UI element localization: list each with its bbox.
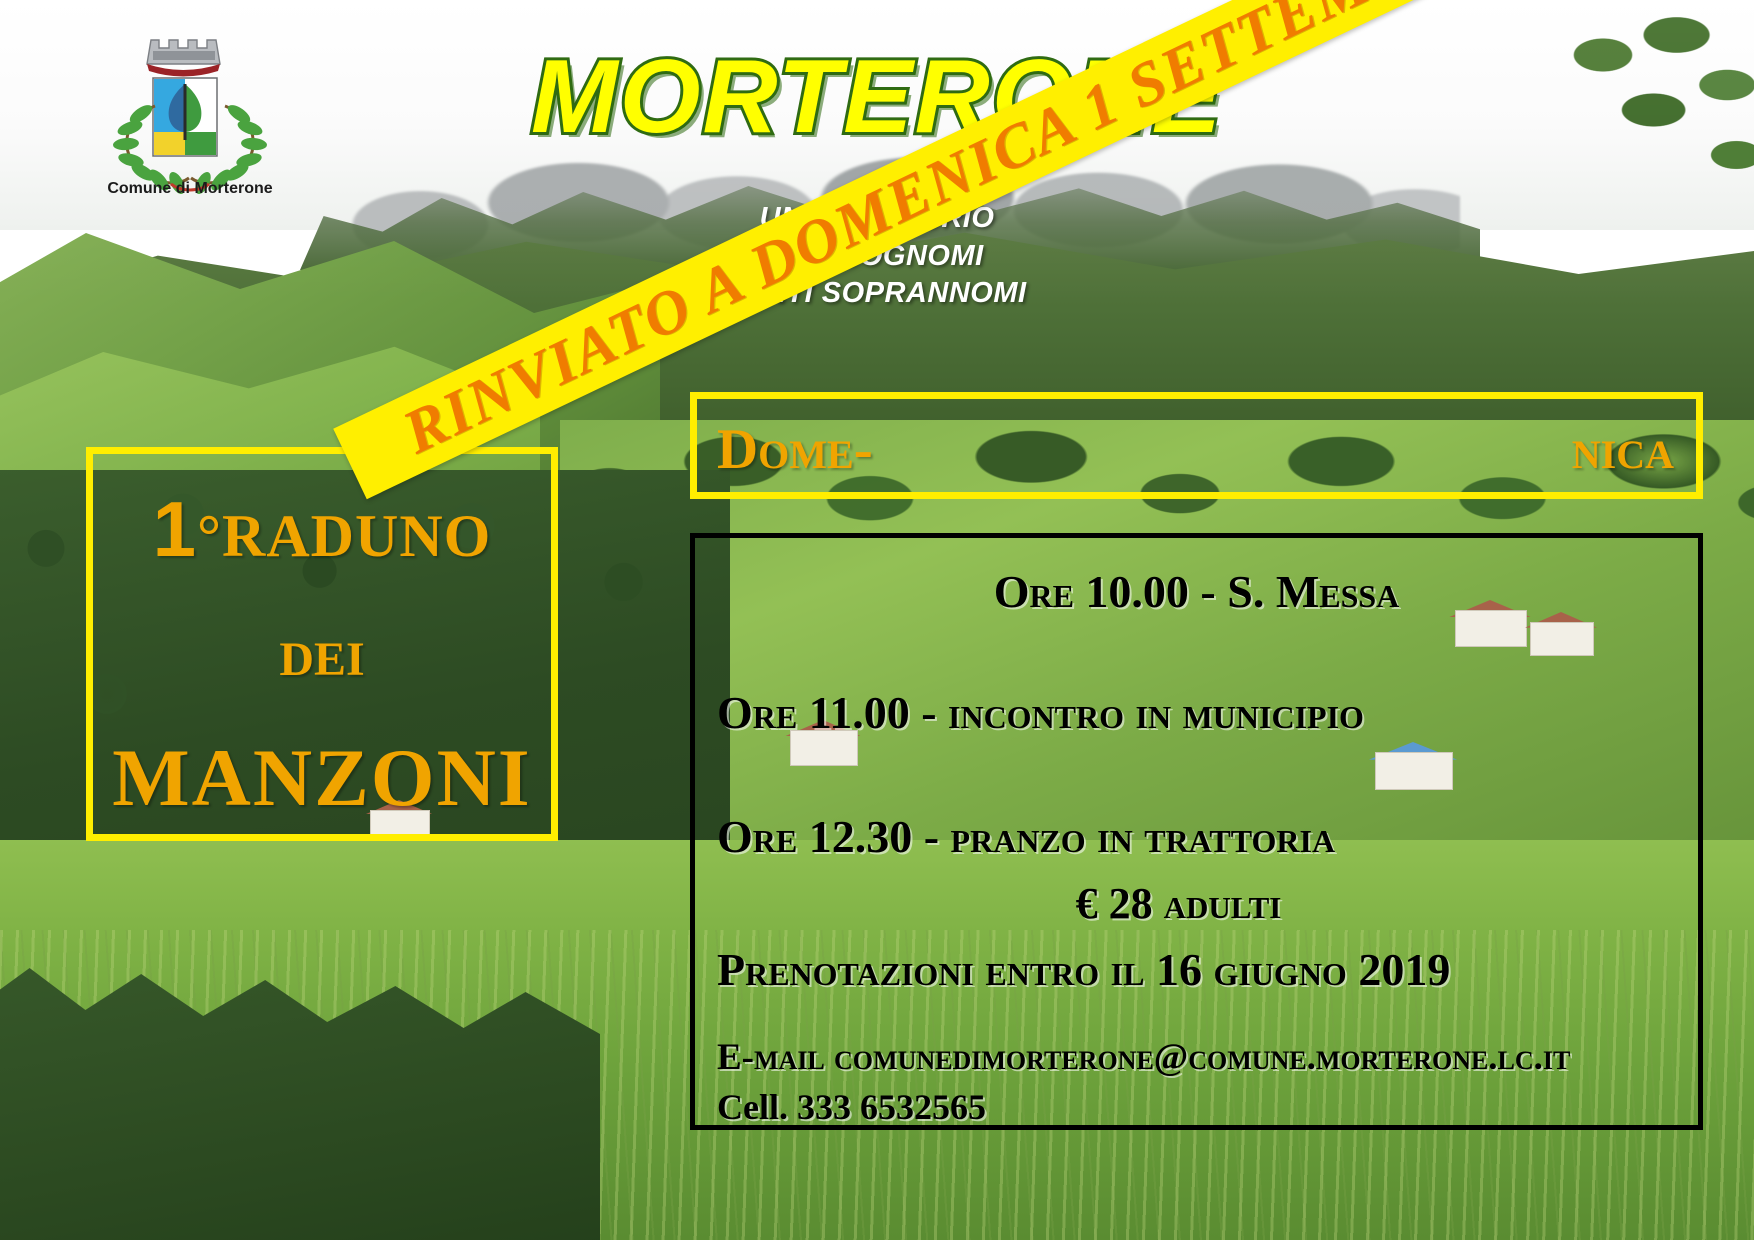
program-line-meeting: Ore 11.00 - incontro in municipio bbox=[717, 686, 1364, 739]
raduno-ordinal: 1 bbox=[153, 485, 197, 573]
program-box: Ore 10.00 - S. Messa Ore 11.00 - incontr… bbox=[690, 533, 1703, 1130]
raduno-surname: MANZONI bbox=[93, 731, 551, 825]
raduno-connector: DEI bbox=[93, 632, 551, 687]
crest-caption: Comune di Morterone bbox=[85, 180, 295, 198]
subtitle-line-3: TANTI SOPRANNOMI bbox=[0, 275, 1754, 313]
program-line-price: € 28 adulti bbox=[695, 878, 1698, 929]
raduno-box: 1°RADUNO DEI MANZONI bbox=[86, 447, 558, 841]
raduno-word: °RADUNO bbox=[197, 503, 491, 569]
date-box: Dome- nica bbox=[690, 392, 1703, 499]
program-line-booking-deadline: Prenotazioni entro il 16 giugno 2019 bbox=[717, 943, 1450, 996]
date-text-left: Dome- bbox=[717, 417, 873, 482]
contact-phone[interactable]: Cell. 333 6532565 bbox=[717, 1086, 986, 1128]
raduno-heading: 1°RADUNO bbox=[93, 484, 551, 575]
date-text-right: nica bbox=[1572, 417, 1674, 482]
poster-title: MORTERONE bbox=[0, 38, 1754, 157]
contact-email[interactable]: E-mail comunedimorterone@comune.morteron… bbox=[717, 1036, 1570, 1079]
program-line-lunch: Ore 12.30 - pranzo in trattoria bbox=[717, 810, 1335, 863]
program-line-mass: Ore 10.00 - S. Messa bbox=[695, 565, 1698, 618]
poster-root: Comune di Morterone MORTERONE UN TERRITO… bbox=[0, 0, 1754, 1240]
